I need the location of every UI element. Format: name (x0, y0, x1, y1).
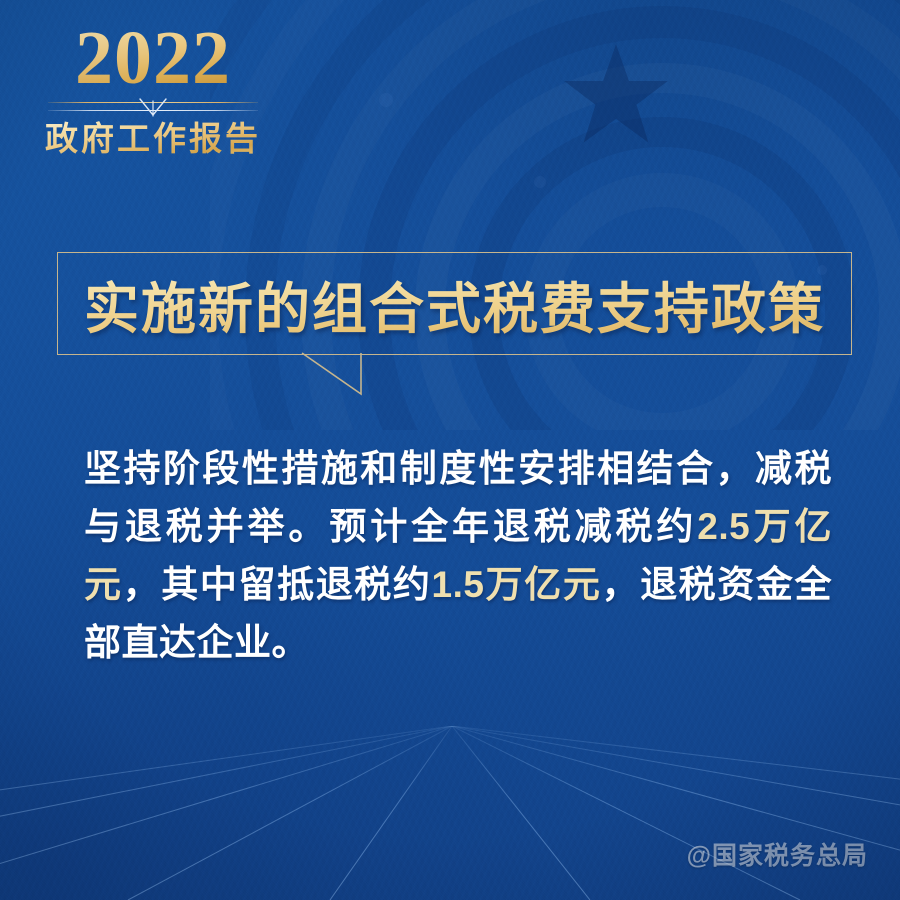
masthead-divider (48, 99, 258, 117)
vee-ornament-icon (136, 98, 170, 118)
report-title-label: 政府工作报告 (38, 121, 268, 158)
headline-text: 实施新的组合式税费支持政策 (58, 264, 851, 344)
body-highlight-figure: 1.5万亿元 (432, 564, 602, 605)
watermark-label: @国家税务总局 (687, 836, 868, 872)
poster-root: 2022 政府工作报告 实施新的组合式税费支持政策 坚持阶段性措施和制度性安排相… (0, 0, 900, 900)
year-label: 2022 (38, 22, 268, 95)
masthead: 2022 政府工作报告 (38, 22, 268, 158)
five-point-star-icon (562, 42, 670, 146)
perspective-grid-icon (0, 726, 900, 900)
headline-bubble: 实施新的组合式税费支持政策 (57, 252, 852, 355)
body-paragraph: 坚持阶段性措施和制度性安排相结合，减税与退税并举。预计全年退税减税约2.5万亿元… (84, 440, 832, 672)
speech-bubble-tail-icon (300, 352, 422, 396)
body-segment: ，其中留抵退税约 (123, 564, 432, 605)
